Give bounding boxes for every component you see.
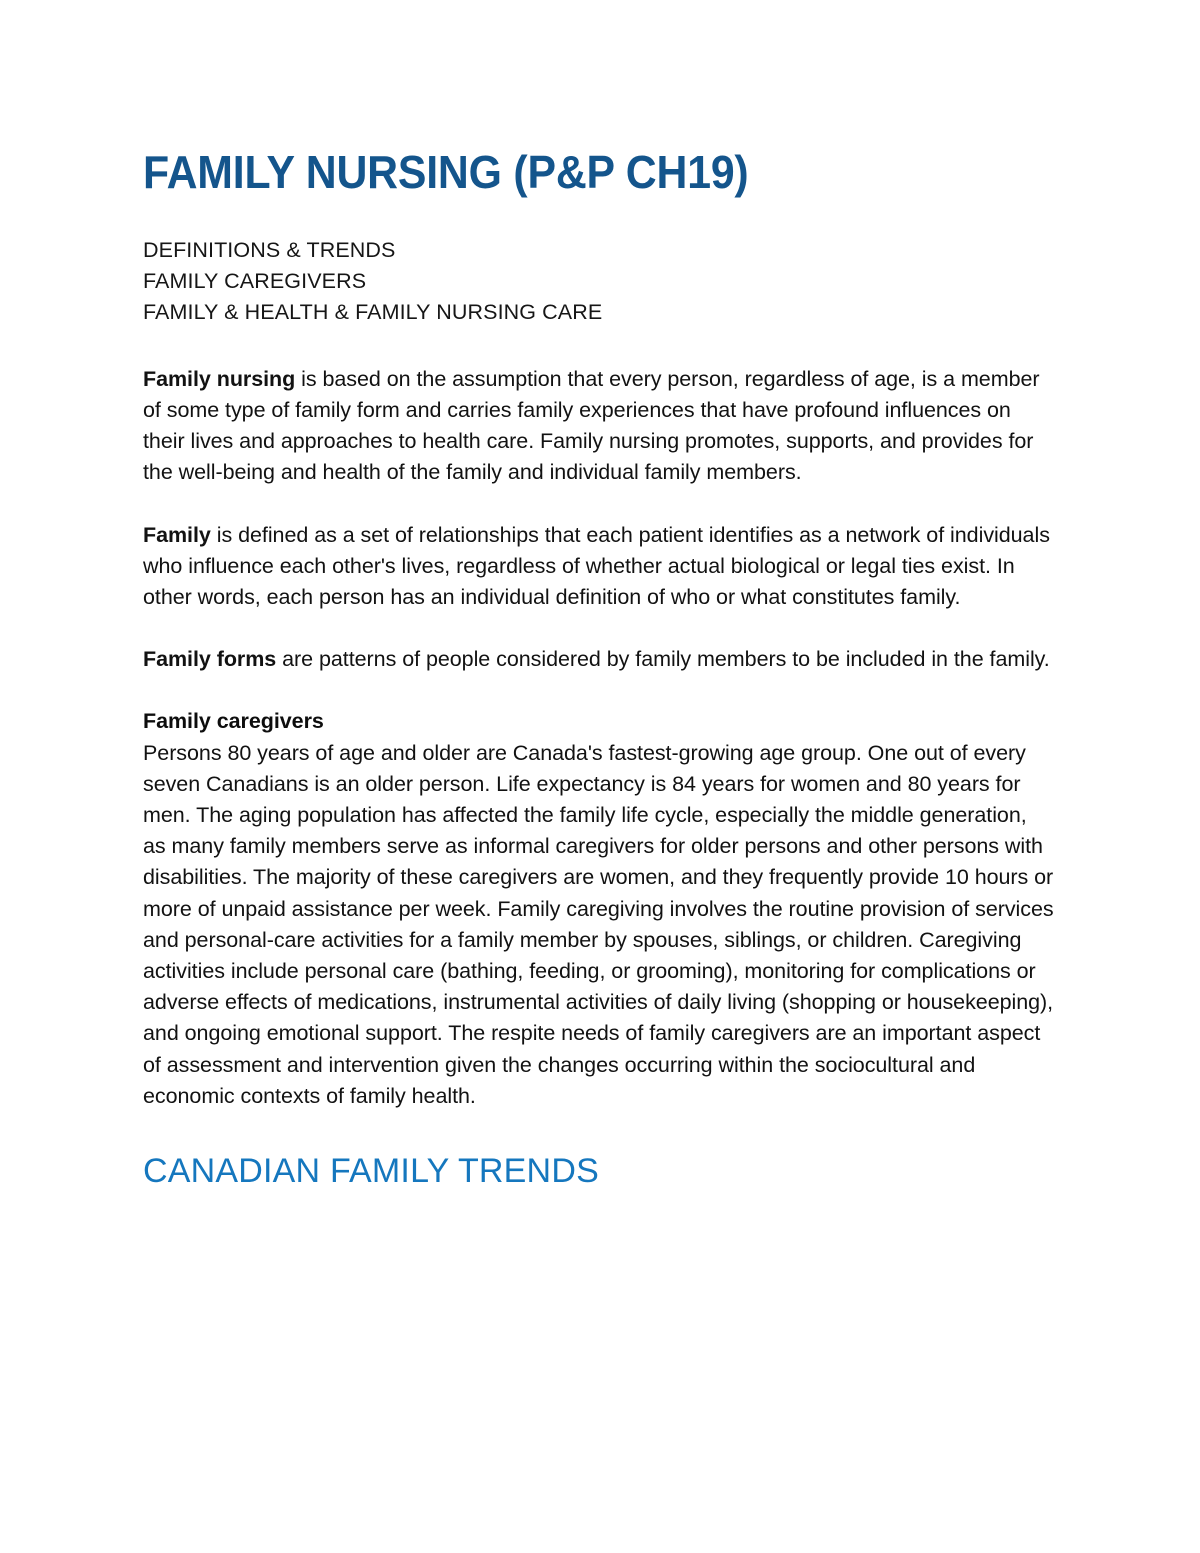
paragraph-family-nursing: Family nursing is based on the assumptio… <box>143 364 1054 489</box>
document-page: FAMILY NURSING (P&P CH19) DEFINITIONS & … <box>0 0 1200 1553</box>
paragraph-family: Family is defined as a set of relationsh… <box>143 520 1054 614</box>
subheading-family-caregivers: Family caregivers <box>143 706 1054 737</box>
paragraph-family-forms-text: are patterns of people considered by fam… <box>276 647 1050 671</box>
paragraph-family-forms: Family forms are patterns of people cons… <box>143 644 1054 675</box>
subtitle-line-family-caregivers: FAMILY CAREGIVERS <box>143 266 1054 297</box>
page-title: FAMILY NURSING (P&P CH19) <box>143 148 990 197</box>
term-family-nursing: Family nursing <box>143 367 295 391</box>
term-family-forms: Family forms <box>143 647 276 671</box>
term-family: Family <box>143 523 211 547</box>
subtitle-line-definitions-trends: DEFINITIONS & TRENDS <box>143 235 1054 266</box>
paragraph-family-text: is defined as a set of relationships tha… <box>143 523 1050 609</box>
subtitle-block: DEFINITIONS & TRENDS FAMILY CAREGIVERS F… <box>143 235 1054 328</box>
section-heading-canadian-family-trends: CANADIAN FAMILY TRENDS <box>143 1152 1054 1191</box>
subtitle-line-family-health-nursing-care: FAMILY & HEALTH & FAMILY NURSING CARE <box>143 297 1054 328</box>
paragraph-family-caregivers: Persons 80 years of age and older are Ca… <box>143 738 1054 1112</box>
